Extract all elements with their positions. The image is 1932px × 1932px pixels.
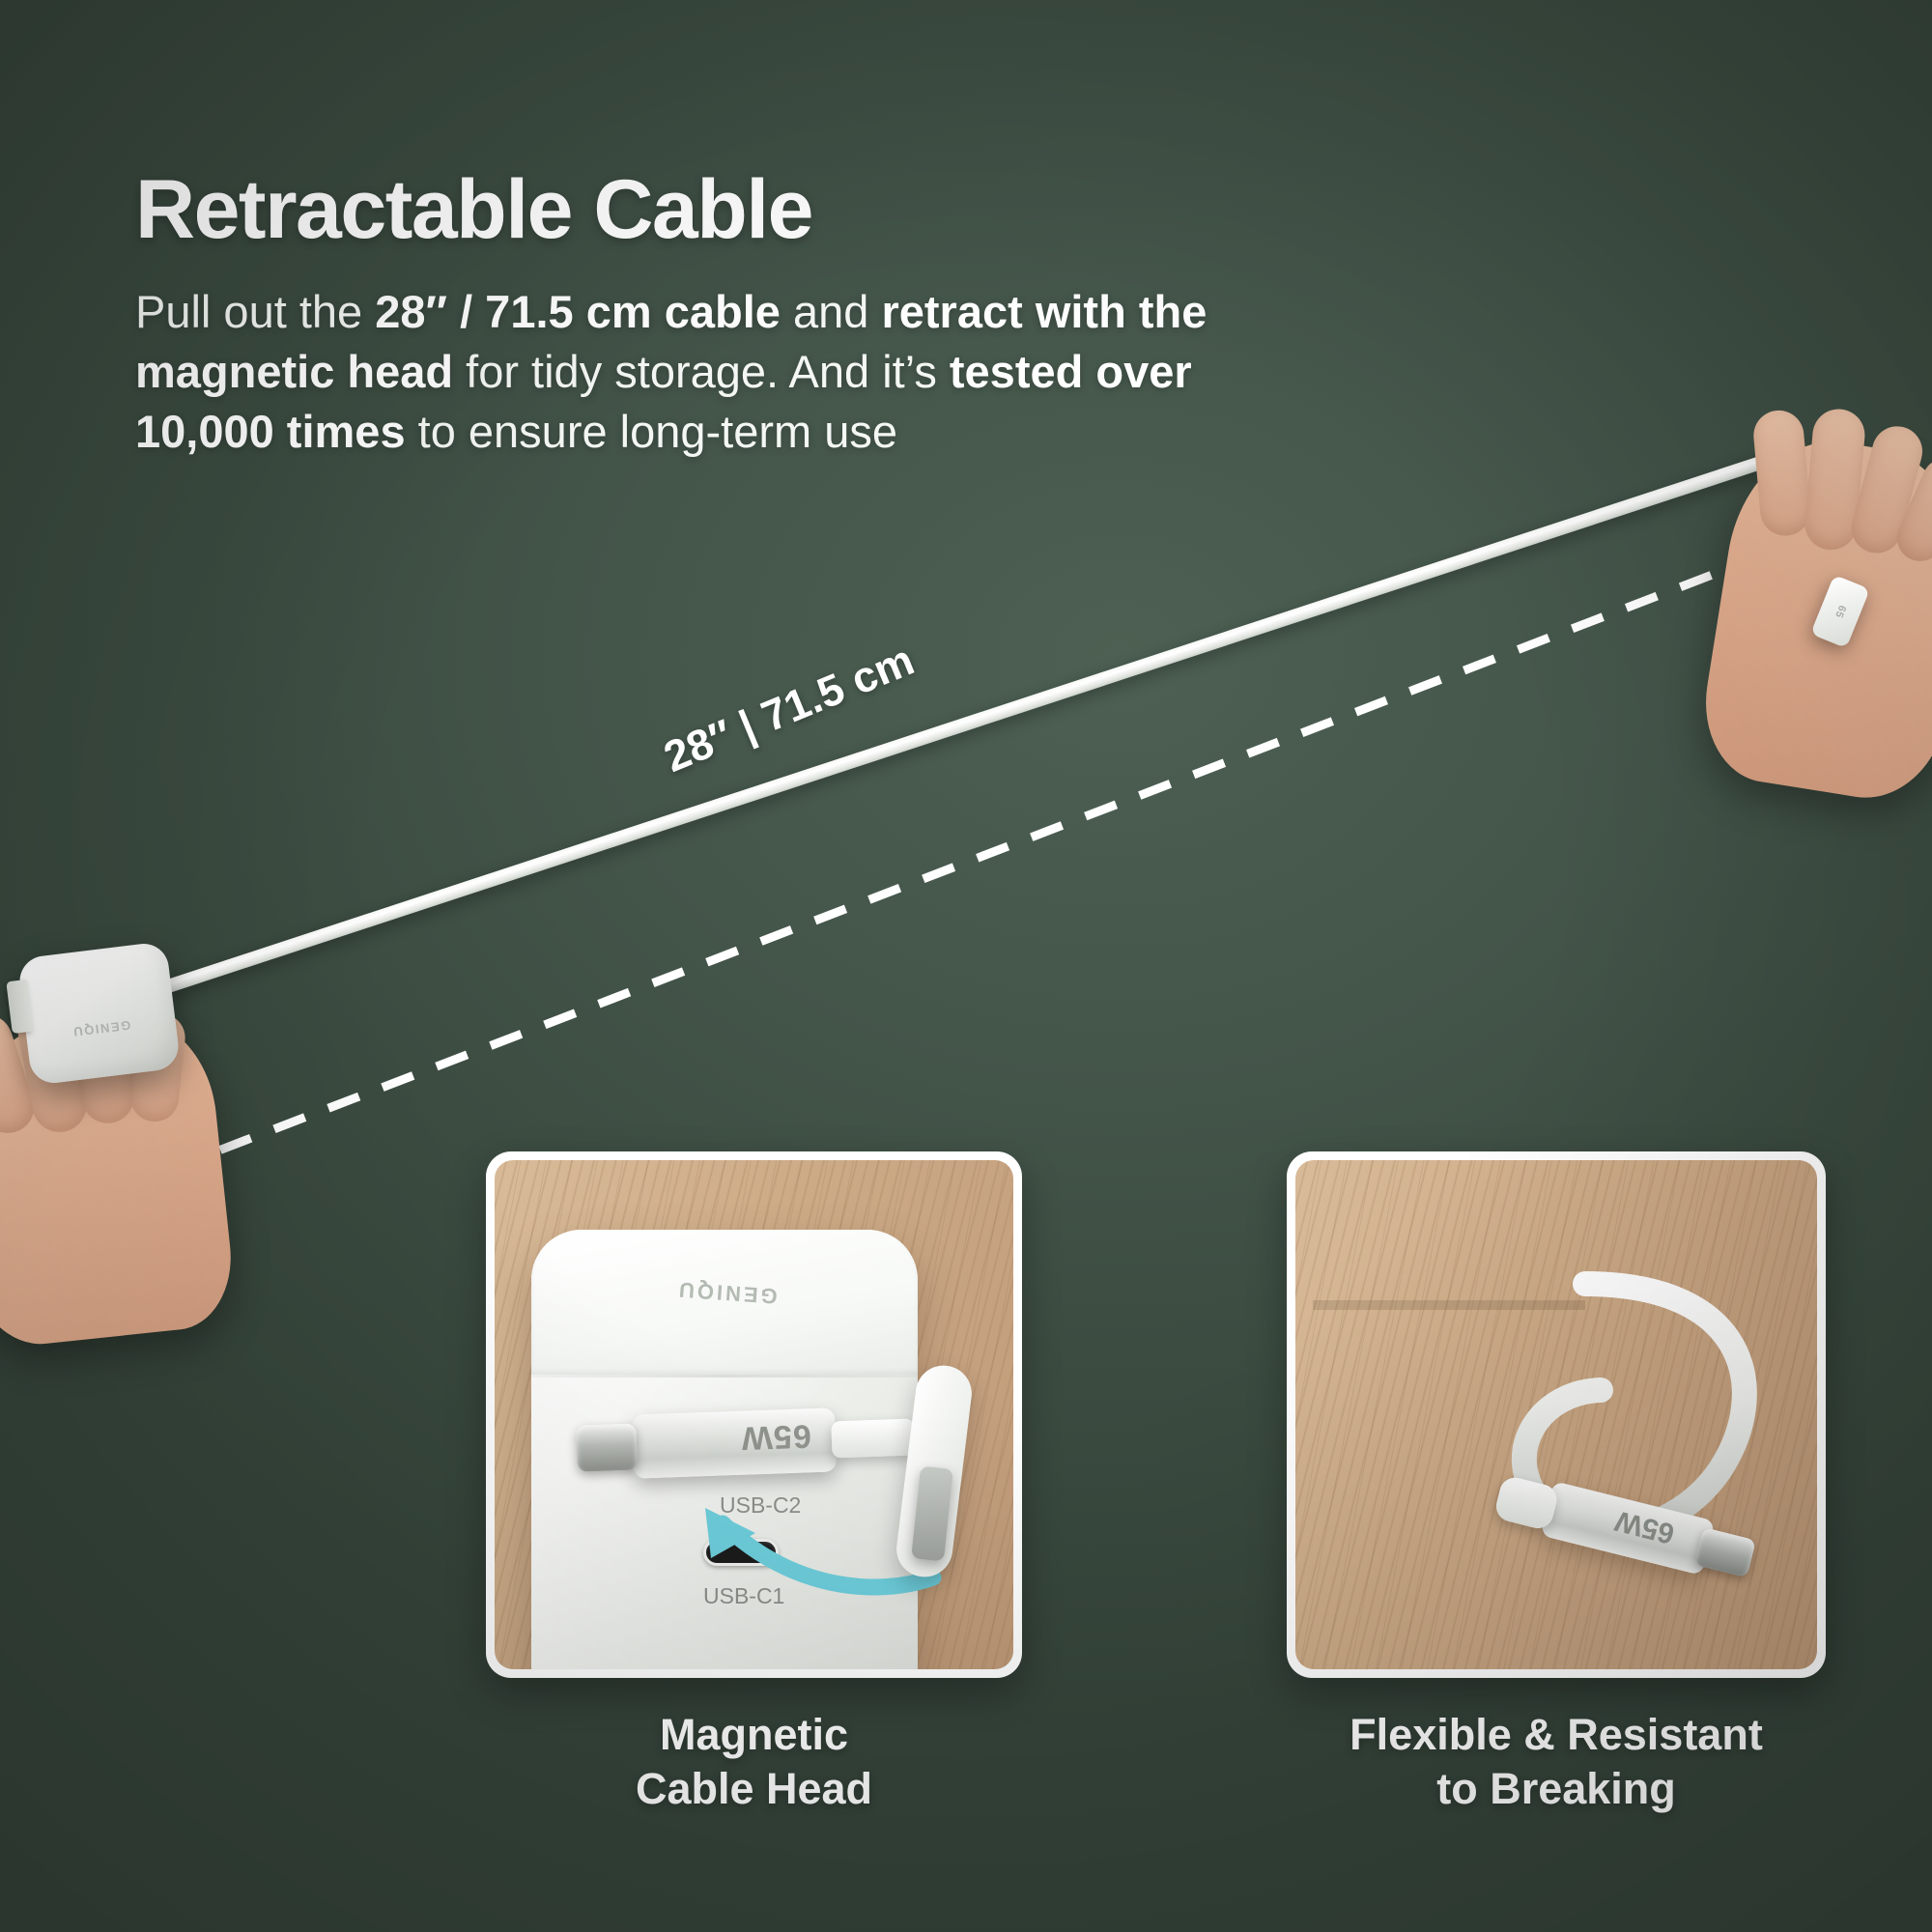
caption-magnetic-cable-head: Magnetic Cable Head [486, 1708, 1022, 1817]
photo-card-image: GENIQU 65W USB-C2 USB-C1 [495, 1160, 1013, 1669]
caption-line: to Breaking [1287, 1762, 1826, 1816]
infographic-canvas: Retractable Cable Pull out the 28″ / 71.… [0, 0, 1932, 1932]
retractable-cable-ribbon [160, 451, 1779, 995]
charger-prong [6, 980, 33, 1034]
cable-tip-watt-label: 65 [1833, 604, 1848, 620]
page-title: Retractable Cable [135, 162, 812, 258]
wattage-value: 65 [772, 1417, 811, 1455]
caption-line: Magnetic [486, 1708, 1022, 1762]
connector-wattage-label: 65W [1612, 1503, 1678, 1549]
finger [1751, 409, 1812, 538]
body-seg-1: Pull out the [135, 286, 375, 337]
wattage-unit: W [740, 1419, 773, 1457]
photo-card-image: 65W [1295, 1160, 1817, 1669]
dimension-dashed-line [166, 533, 1820, 1171]
charger-block: GENIQU [17, 941, 182, 1086]
connector-cable-tail [831, 1418, 915, 1458]
connector-wattage-label: 65W [740, 1416, 811, 1457]
body-bold-cable-length: 28″ / 71.5 cm cable [375, 286, 781, 337]
brand-logo-text: GENIQU [675, 1276, 778, 1308]
magnetic-connector-65w: 65W [632, 1407, 837, 1478]
body-seg-4: to ensure long-term use [406, 406, 897, 457]
body-description: Pull out the 28″ / 71.5 cm cable and ret… [135, 282, 1275, 462]
charger-top-face: GENIQU [531, 1230, 918, 1375]
photo-card-magnetic-cable-head: GENIQU 65W USB-C2 USB-C1 [486, 1151, 1022, 1678]
charger-edge-divider [531, 1375, 918, 1378]
body-seg-2: and [781, 286, 882, 337]
usb-c-plug-icon [576, 1424, 638, 1472]
flexible-cable-loop-graphic [1295, 1160, 1817, 1669]
body-seg-3: for tidy storage. And it’s [453, 346, 950, 397]
caption-line: Cable Head [486, 1762, 1022, 1816]
brand-logo-text: GENIQU [71, 1018, 130, 1039]
caption-flexible-resistant: Flexible & Resistant to Breaking [1287, 1708, 1826, 1817]
caption-line: Flexible & Resistant [1287, 1708, 1826, 1762]
photo-card-flexible-resistant: 65W [1287, 1151, 1826, 1678]
charger-body-photo: GENIQU 65W USB-C2 USB-C1 [531, 1230, 918, 1669]
dimension-label: 28″ | 71.5 cm [657, 635, 921, 782]
right-hand [1693, 428, 1932, 810]
